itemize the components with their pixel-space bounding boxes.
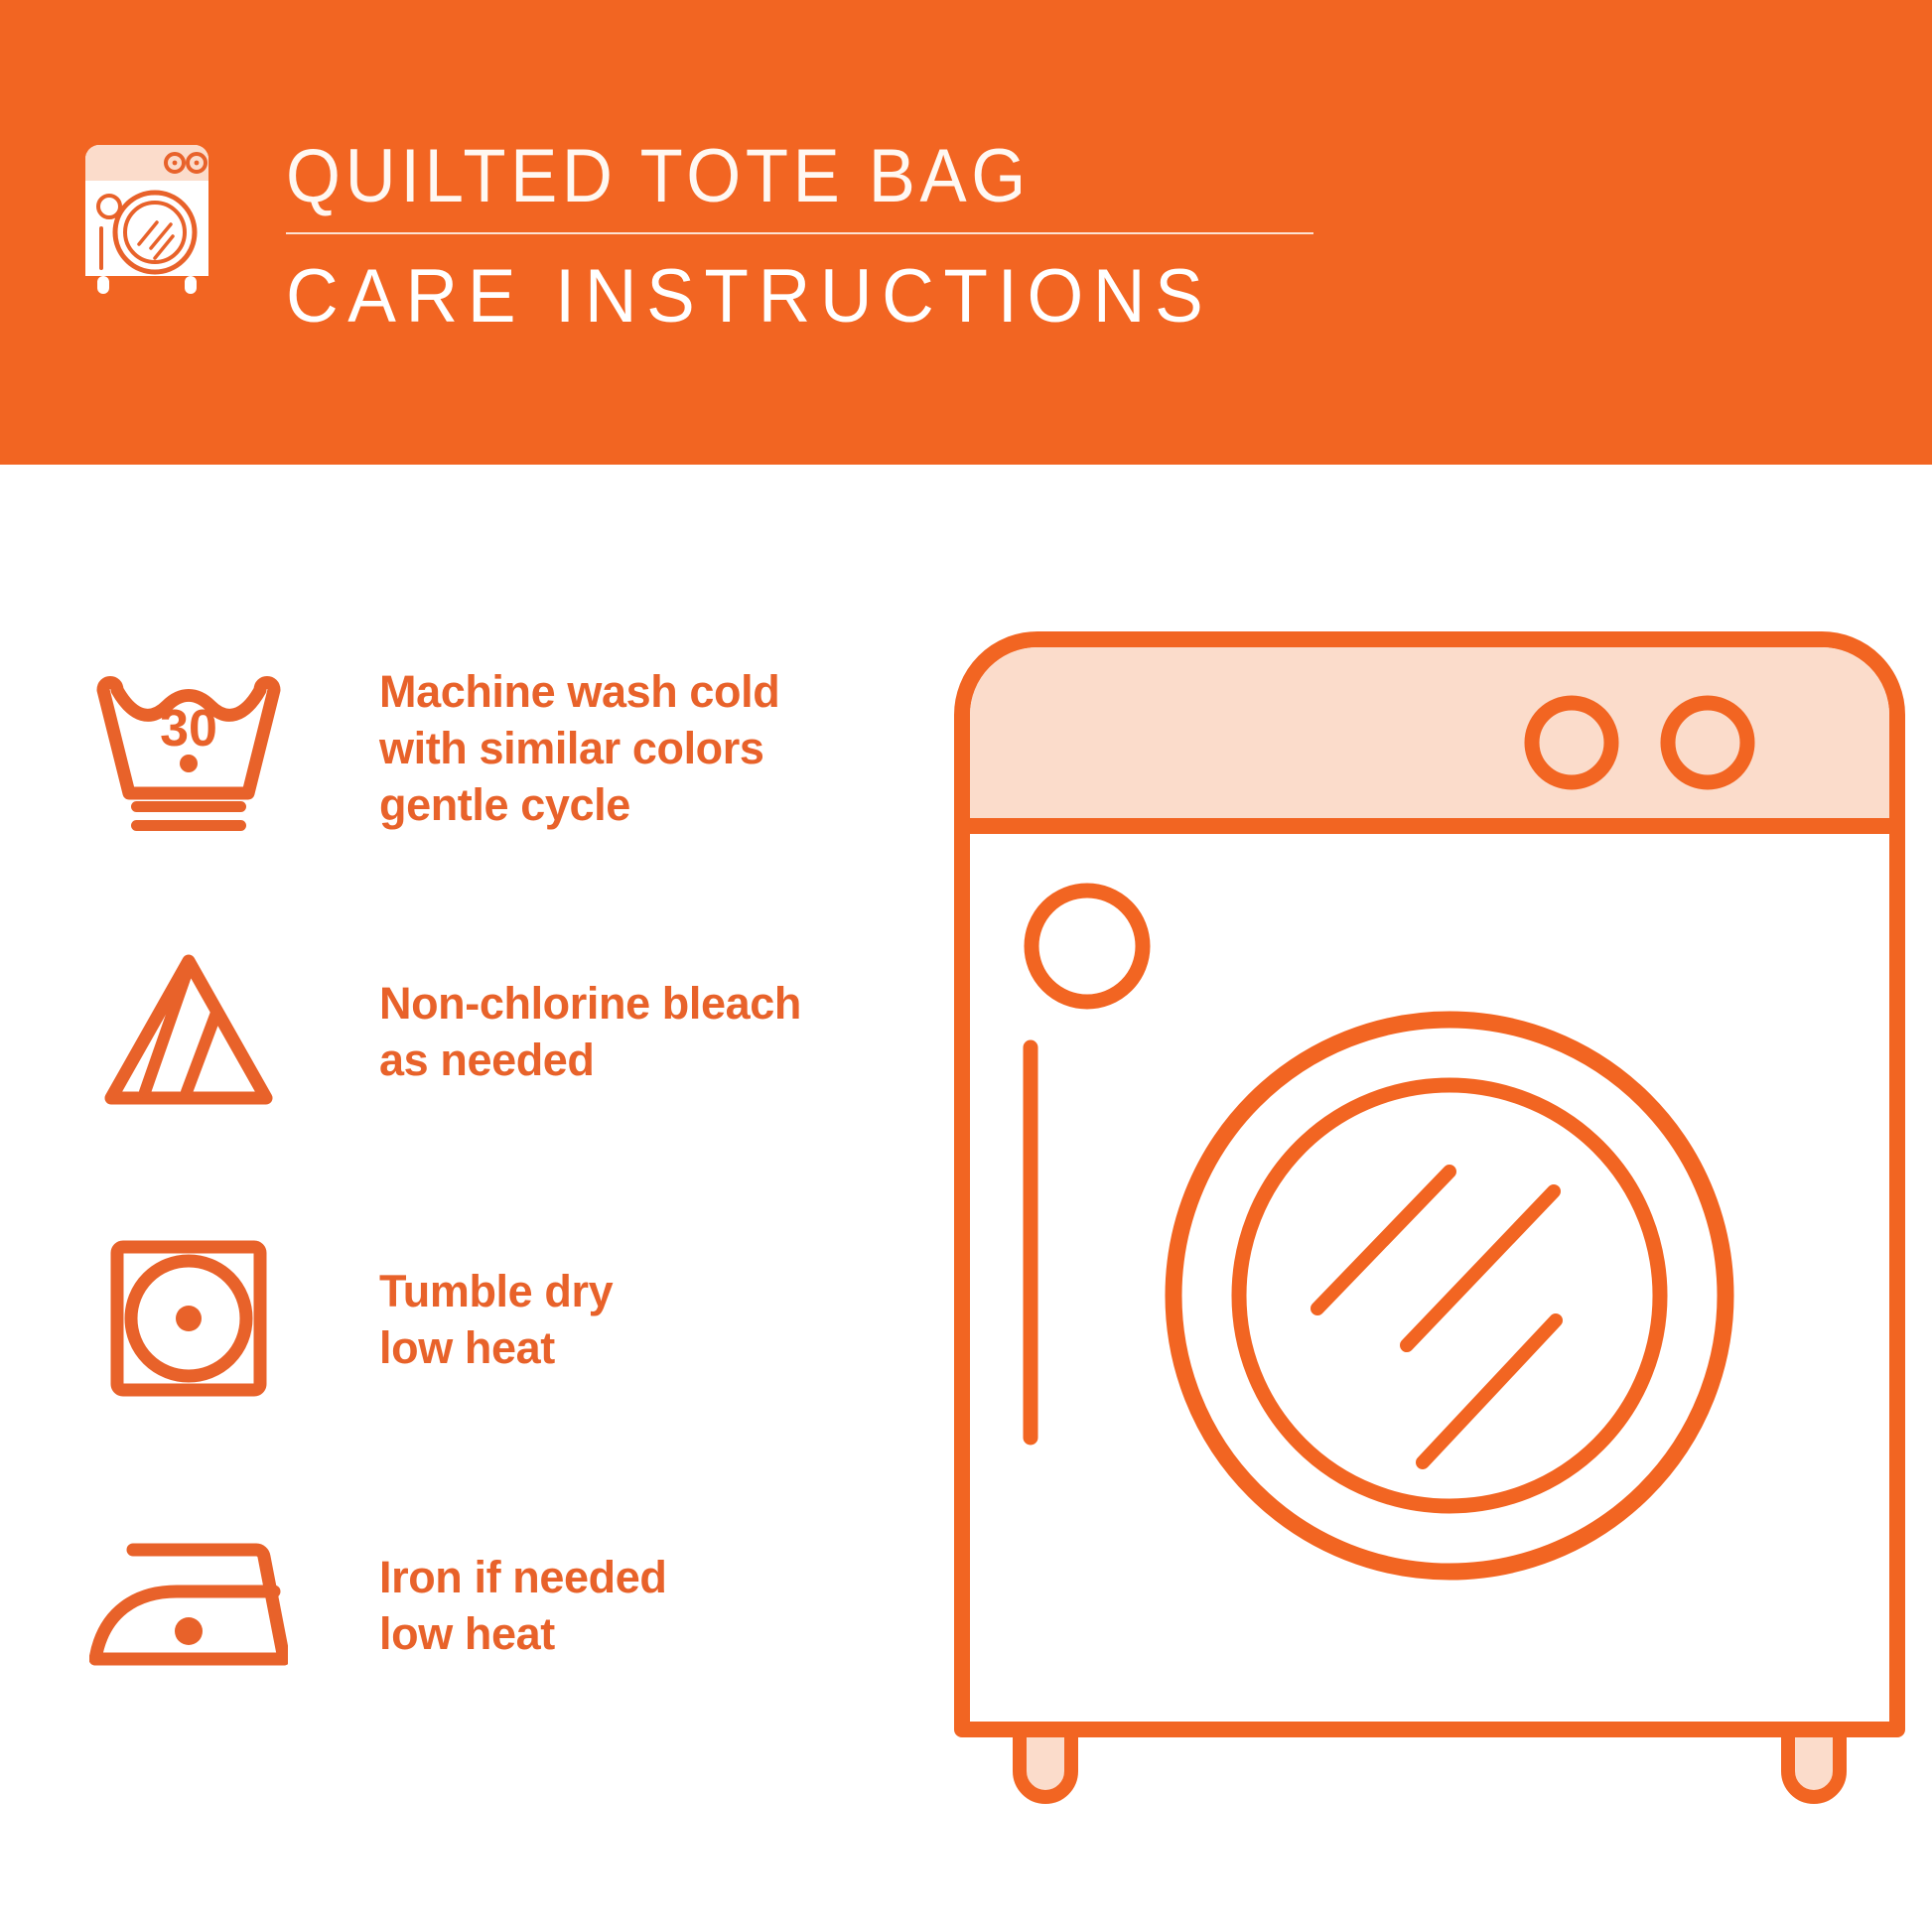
care-text-tumble-dry: Tumble dry low heat (379, 1219, 613, 1376)
title-divider (286, 232, 1313, 234)
header-banner: QUILTED TOTE BAG CARE INSTRUCTIONS (0, 0, 1932, 465)
care-row-bleach: Non-chlorine bleach as needed (0, 931, 973, 1130)
care-text-iron: Iron if needed low heat (379, 1505, 666, 1662)
iron-low-heat-icon (79, 1505, 298, 1704)
wash-temperature-label: 30 (160, 700, 217, 758)
non-chlorine-bleach-triangle-icon (79, 931, 298, 1130)
care-row-machine-wash: 30 Machine wash cold with similar colors… (0, 651, 973, 850)
page-title: QUILTED TOTE BAG (286, 137, 1265, 216)
care-text-bleach: Non-chlorine bleach as needed (379, 931, 801, 1088)
care-row-iron: Iron if needed low heat (0, 1505, 973, 1704)
care-instruction-list: 30 Machine wash cold with similar colors… (0, 465, 973, 1932)
machine-wash-tub-icon: 30 (79, 651, 298, 850)
page-subtitle: CARE INSTRUCTIONS (286, 256, 1297, 338)
care-text-machine-wash: Machine wash cold with similar colors ge… (379, 651, 779, 833)
washing-machine-icon (77, 137, 216, 296)
header-title-group: QUILTED TOTE BAG CARE INSTRUCTIONS (286, 137, 1338, 338)
front-load-washing-machine-illustration (948, 625, 1911, 1837)
care-instructions-page: QUILTED TOTE BAG CARE INSTRUCTIONS 30 (0, 0, 1932, 1932)
tumble-dry-low-icon (79, 1219, 298, 1418)
care-row-tumble-dry: Tumble dry low heat (0, 1219, 973, 1418)
